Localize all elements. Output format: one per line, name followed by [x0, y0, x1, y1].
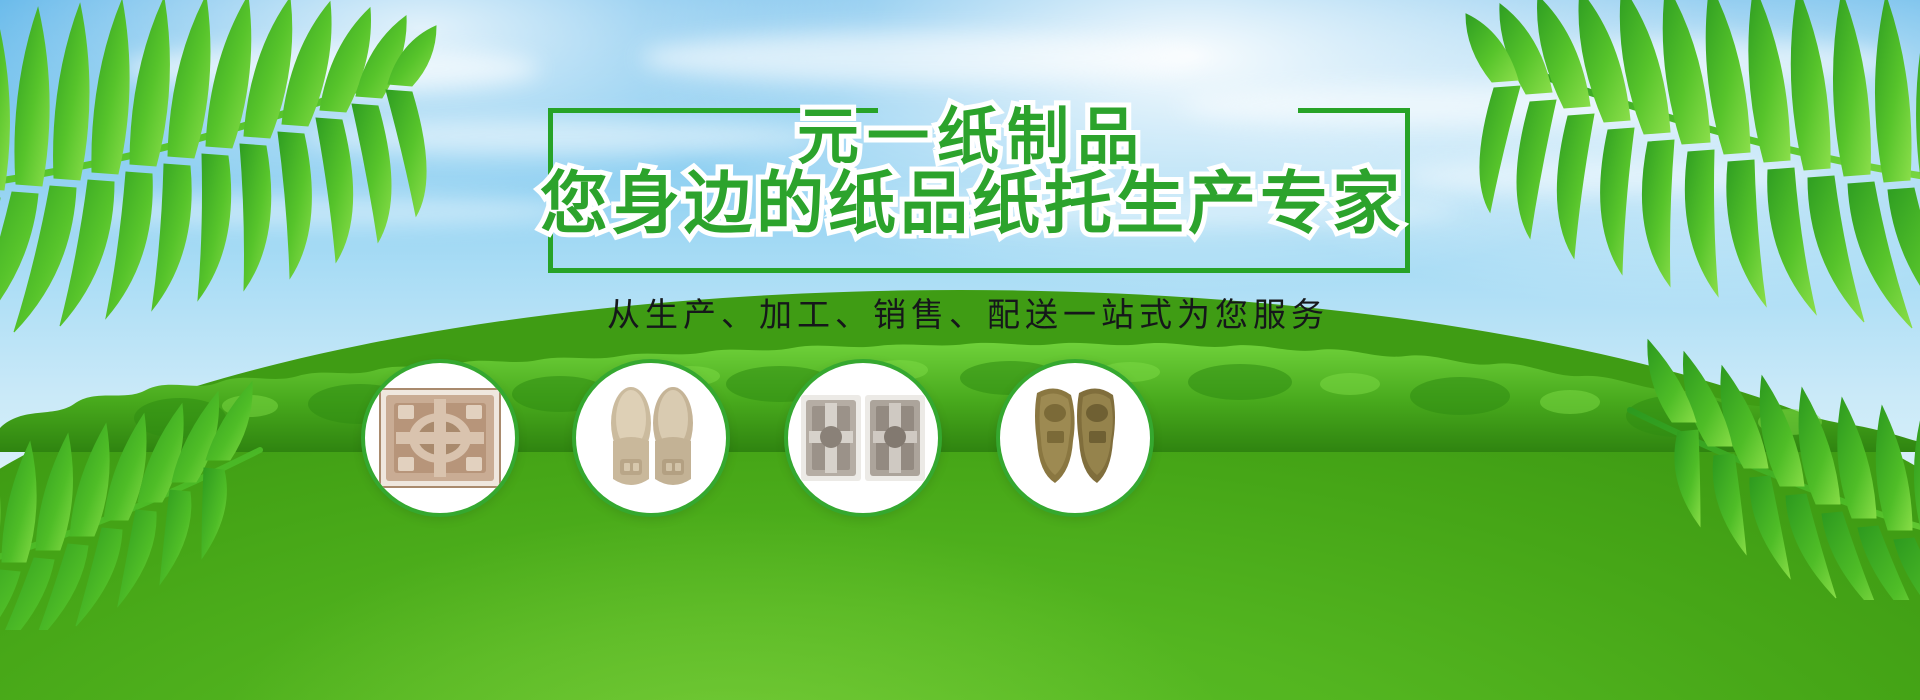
- headline: 您身边的纸品纸托生产专家: [12, 148, 1920, 247]
- promo-banner: 元一纸制品 您身边的纸品纸托生产专家 从生产、加工、销售、配送一站式为您服务: [0, 0, 1920, 700]
- subtitle: 从生产、加工、销售、配送一站式为您服务: [8, 288, 1920, 336]
- frame-bottom-rule: [548, 268, 1410, 273]
- headline-block: 元一纸制品 您身边的纸品纸托生产专家 从生产、加工、销售、配送一站式为您服务: [0, 0, 1920, 700]
